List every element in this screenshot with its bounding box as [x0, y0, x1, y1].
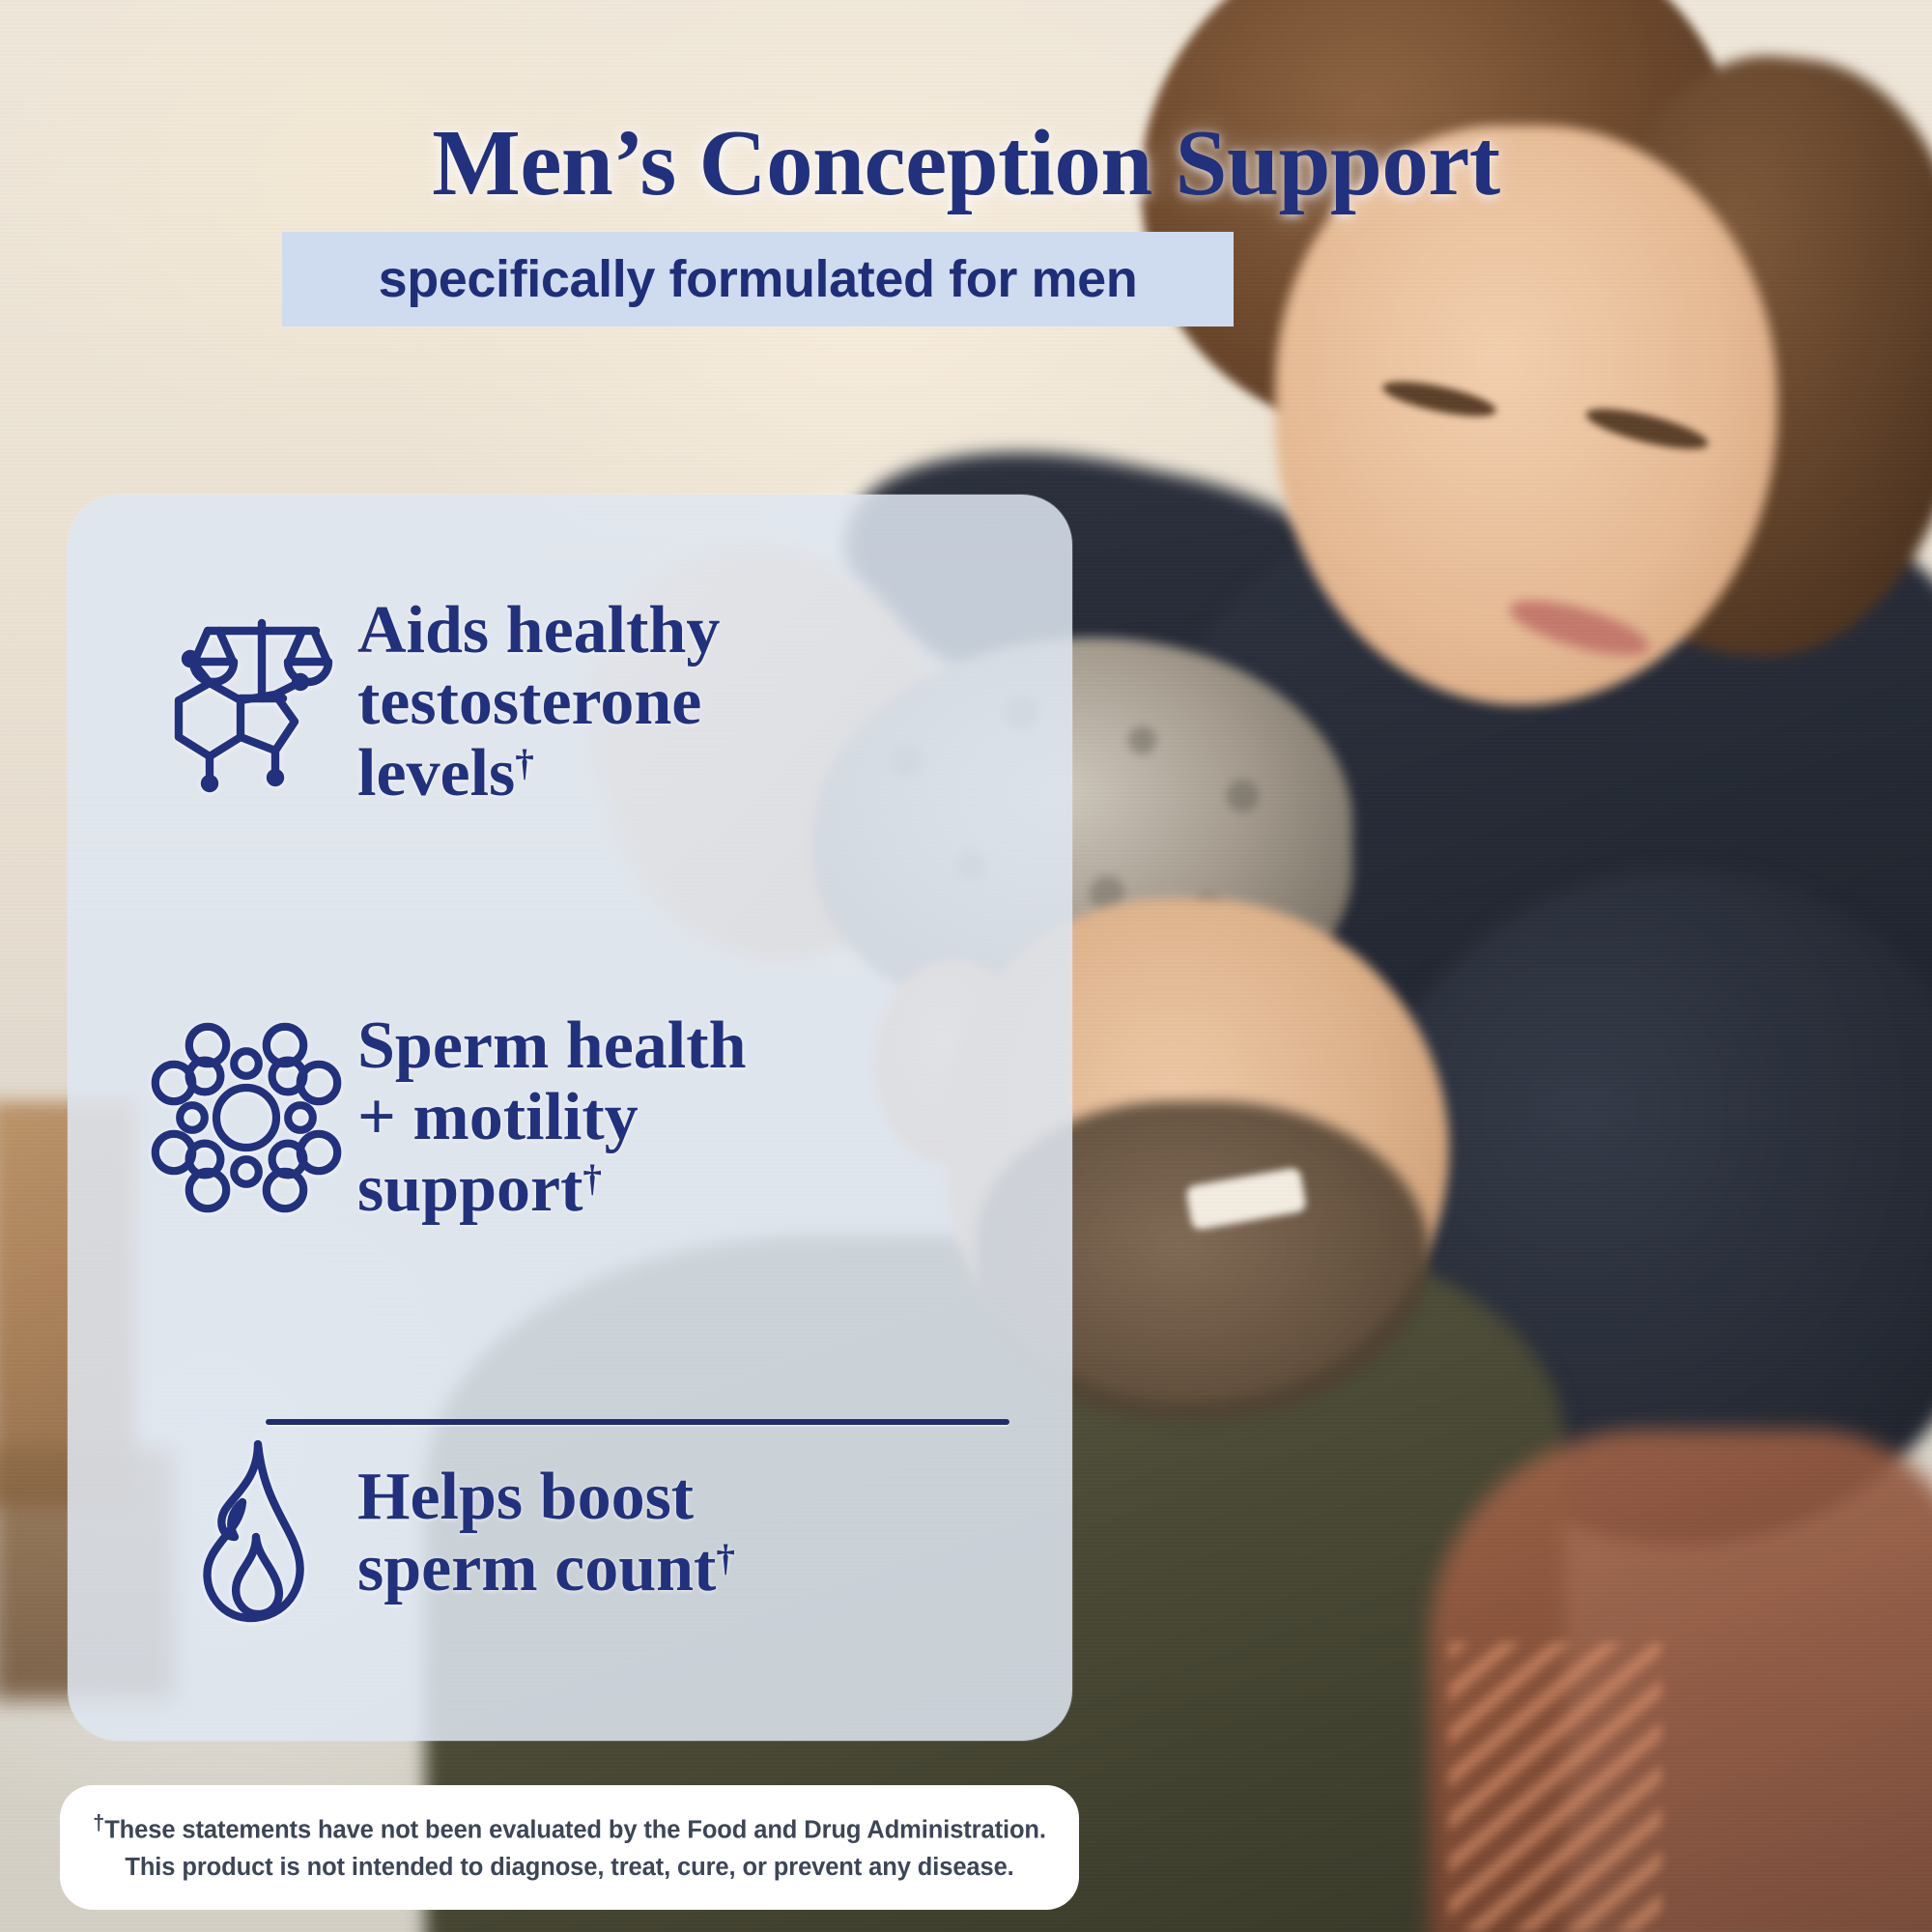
flame-icon — [135, 1436, 357, 1630]
benefit-line-with-footnote: support† — [357, 1153, 747, 1225]
scales-molecule-icon — [135, 606, 357, 799]
page-title: Men’s Conception Support — [0, 114, 1932, 213]
benefit-line: sperm count — [357, 1531, 716, 1605]
subtitle-banner: specifically formulated for men — [282, 232, 1234, 327]
benefit-text-testosterone: Aids healthy testosterone levels† — [357, 595, 720, 810]
photo-blanket-pattern — [1449, 1642, 1662, 1932]
benefit-line: Aids healthy — [357, 595, 720, 667]
benefit-line: Helps boost — [357, 1462, 735, 1533]
disclaimer-text: These statements have not been evaluated… — [104, 1816, 1046, 1843]
benefit-line: testosterone — [357, 667, 720, 738]
benefit-line: Sperm health — [357, 1010, 747, 1082]
footnote-marker: † — [582, 1158, 602, 1200]
disclaimer-line-2: This product is not intended to diagnose… — [93, 1849, 1046, 1887]
footnote-marker: † — [93, 1810, 104, 1834]
sperm-cluster-icon — [135, 1021, 357, 1214]
benefit-line: levels — [357, 736, 515, 810]
product-benefits-infographic: Men’s Conception Support specifically fo… — [0, 0, 1932, 1932]
benefits-card: Aids healthy testosterone levels† — [68, 495, 1072, 1741]
benefit-line-with-footnote: levels† — [357, 738, 720, 810]
benefit-line: support — [357, 1151, 582, 1226]
benefit-item-testosterone: Aids healthy testosterone levels† — [68, 495, 1072, 910]
benefit-item-sperm-count: Helps boost sperm count† — [68, 1325, 1072, 1741]
fda-disclaimer: †These statements have not been evaluate… — [60, 1785, 1079, 1910]
footnote-marker: † — [716, 1538, 735, 1579]
benefit-text-sperm-count: Helps boost sperm count† — [357, 1462, 735, 1605]
benefit-line: + motility — [357, 1082, 747, 1153]
benefit-item-sperm-health: Sperm health + motility support† — [68, 910, 1072, 1325]
benefit-divider — [266, 1419, 1009, 1425]
footnote-marker: † — [515, 743, 534, 784]
benefit-line-with-footnote: sperm count† — [357, 1533, 735, 1605]
benefit-text-sperm-health: Sperm health + motility support† — [357, 1010, 747, 1226]
disclaimer-line-1: †These statements have not been evaluate… — [93, 1806, 1046, 1849]
subtitle-text: specifically formulated for men — [379, 249, 1138, 309]
benefits-list: Aids healthy testosterone levels† — [68, 495, 1072, 1741]
